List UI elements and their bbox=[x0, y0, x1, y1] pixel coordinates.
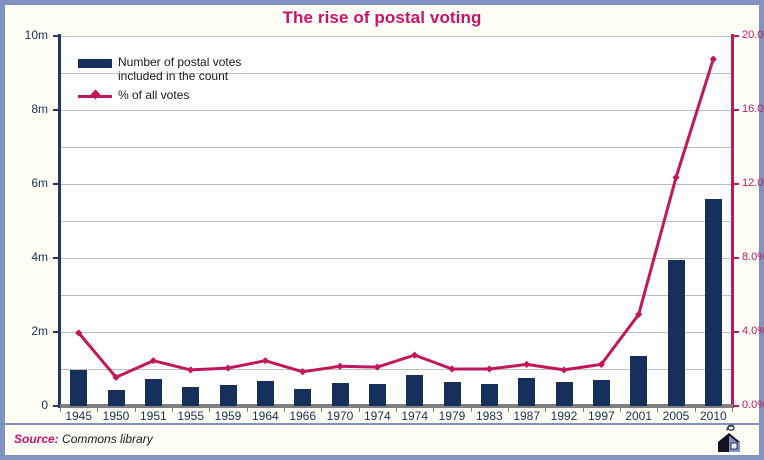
x-axis-label-year: 1964 bbox=[252, 409, 279, 423]
x-axis-label-year: 2005 bbox=[663, 409, 690, 423]
source-note: Source: Commons library bbox=[14, 432, 153, 446]
chart-legend: Number of postal votes included in the c… bbox=[78, 55, 241, 104]
gridline bbox=[60, 110, 732, 111]
left-axis-tick bbox=[53, 405, 58, 407]
source-value: Commons library bbox=[62, 432, 153, 446]
x-axis-label-year: 1945 bbox=[65, 409, 92, 423]
gridline bbox=[60, 36, 732, 37]
bar bbox=[518, 378, 535, 406]
right-axis-tick bbox=[734, 257, 739, 259]
right-axis-label: 20.0% bbox=[742, 30, 764, 40]
source-label: Source: bbox=[14, 432, 59, 446]
right-axis-tick bbox=[734, 405, 739, 407]
bar bbox=[182, 387, 199, 406]
footer-divider bbox=[5, 423, 759, 425]
bar bbox=[705, 199, 722, 406]
bar bbox=[108, 390, 125, 406]
bar bbox=[369, 384, 386, 406]
left-axis-label: 8m bbox=[0, 104, 48, 114]
bar bbox=[556, 382, 573, 406]
right-axis-line bbox=[731, 34, 734, 408]
x-axis-label-year: 1992 bbox=[551, 409, 578, 423]
bar bbox=[145, 379, 162, 406]
commons-library-house-logo-icon bbox=[709, 419, 749, 455]
gridline bbox=[60, 221, 732, 222]
legend-bar-label-line1: Number of postal votes bbox=[118, 55, 241, 69]
left-axis-tick bbox=[53, 257, 58, 259]
gridline bbox=[60, 295, 732, 296]
x-axis-label-year: 1970 bbox=[327, 409, 354, 423]
legend-item-line: % of all votes bbox=[78, 88, 241, 102]
x-axis-label-year: 1966 bbox=[289, 409, 316, 423]
gridline bbox=[60, 147, 732, 148]
legend-bar-swatch-icon bbox=[78, 59, 112, 68]
bar bbox=[481, 384, 498, 406]
x-axis-label-year: 1959 bbox=[215, 409, 242, 423]
right-axis-label: 0.0% bbox=[742, 400, 764, 410]
x-axis-label-year: 1974 bbox=[364, 409, 391, 423]
bar bbox=[332, 383, 349, 406]
right-axis-tick bbox=[734, 35, 739, 37]
gridline bbox=[60, 184, 732, 185]
bar bbox=[593, 380, 610, 406]
legend-bar-label-line2: included in the count bbox=[118, 69, 241, 83]
x-axis-label-year: 1979 bbox=[439, 409, 466, 423]
bar bbox=[444, 382, 461, 406]
bar bbox=[630, 356, 647, 406]
legend-item-bars: Number of postal votes included in the c… bbox=[78, 55, 241, 83]
right-axis-label: 16.0% bbox=[742, 104, 764, 114]
x-axis-label-year: 1997 bbox=[588, 409, 615, 423]
bar bbox=[294, 389, 311, 406]
left-axis-label: 2m bbox=[0, 326, 48, 336]
x-axis-label-year: 1950 bbox=[103, 409, 130, 423]
x-axis-label-year: 1951 bbox=[140, 409, 167, 423]
bar bbox=[70, 370, 87, 406]
legend-line-label: % of all votes bbox=[118, 88, 241, 102]
left-axis-tick bbox=[53, 183, 58, 185]
left-axis-tick bbox=[53, 109, 58, 111]
left-axis-label: 10m bbox=[0, 30, 48, 40]
left-axis-line bbox=[58, 34, 61, 408]
bar bbox=[220, 385, 237, 406]
gridline bbox=[60, 332, 732, 333]
x-axis-label-year: 2001 bbox=[625, 409, 652, 423]
x-axis-label-year: 1987 bbox=[513, 409, 540, 423]
x-axis-label-year: 1955 bbox=[177, 409, 204, 423]
right-axis-tick bbox=[734, 109, 739, 111]
gridline bbox=[60, 258, 732, 259]
bar bbox=[668, 260, 685, 406]
right-axis-label: 4.0% bbox=[742, 326, 764, 336]
left-axis-label: 4m bbox=[0, 252, 48, 262]
x-axis-label-year: 1974 bbox=[401, 409, 428, 423]
right-axis-label: 8.0% bbox=[742, 252, 764, 262]
chart-canvas: The rise of postal voting 02m4m6m8m10m 0… bbox=[0, 0, 764, 460]
left-axis-tick bbox=[53, 331, 58, 333]
right-axis-label: 12.0% bbox=[742, 178, 764, 188]
right-axis-tick bbox=[734, 331, 739, 333]
chart-title: The rise of postal voting bbox=[0, 8, 764, 28]
left-axis-label: 0 bbox=[0, 400, 48, 410]
left-axis-label: 6m bbox=[0, 178, 48, 188]
chart-footer: Source: Commons library bbox=[5, 423, 759, 455]
bar bbox=[406, 375, 423, 406]
right-axis-tick bbox=[734, 183, 739, 185]
left-axis-tick bbox=[53, 35, 58, 37]
x-axis-label-year: 1983 bbox=[476, 409, 503, 423]
bar bbox=[257, 381, 274, 406]
